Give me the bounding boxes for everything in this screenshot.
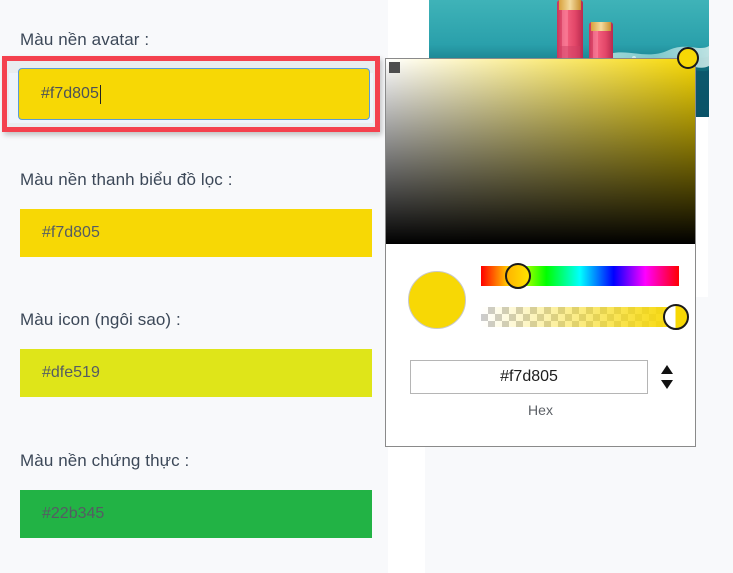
saturation-value-area[interactable] bbox=[386, 59, 695, 244]
triangle-up-icon bbox=[661, 365, 673, 374]
saturation-value-handle[interactable] bbox=[677, 47, 699, 69]
field-label-icon-star-color: Màu icon (ngôi sao) : bbox=[20, 310, 181, 330]
alpha-slider[interactable] bbox=[481, 307, 679, 327]
input-verification-background-value: #22b345 bbox=[42, 505, 104, 523]
hex-spinner[interactable] bbox=[660, 364, 674, 390]
field-label-filter-bar-background: Màu nền thanh biểu đồ lọc : bbox=[20, 170, 233, 190]
input-filter-bar-background-value: #f7d805 bbox=[42, 224, 100, 242]
input-filter-bar-background-color[interactable]: #f7d805 bbox=[20, 209, 372, 257]
input-icon-star-color[interactable]: #dfe519 bbox=[20, 349, 372, 397]
page-root: Màu nền avatar : #f7d805 Màu nền thanh b… bbox=[0, 0, 733, 573]
saturation-value-corner-marker bbox=[389, 62, 400, 73]
hex-input-row: #f7d805 bbox=[410, 360, 672, 394]
input-avatar-background-value: #f7d805 bbox=[41, 85, 99, 103]
hex-input[interactable]: #f7d805 bbox=[410, 360, 648, 394]
hue-slider-handle[interactable] bbox=[505, 263, 531, 289]
input-icon-star-value: #dfe519 bbox=[42, 364, 100, 382]
input-avatar-background-color[interactable]: #f7d805 bbox=[18, 68, 370, 120]
text-caret bbox=[100, 85, 101, 104]
field-label-verification-background: Màu nền chứng thực : bbox=[20, 451, 189, 471]
color-picker-popup[interactable]: #f7d805 Hex bbox=[385, 58, 696, 447]
alpha-slider-handle[interactable] bbox=[663, 304, 689, 330]
color-preview-swatch bbox=[408, 271, 466, 329]
triangle-down-icon bbox=[661, 380, 673, 389]
input-verification-background-color[interactable]: #22b345 bbox=[20, 490, 372, 538]
settings-form: Màu nền avatar : #f7d805 Màu nền thanh b… bbox=[0, 0, 388, 573]
hue-slider[interactable] bbox=[481, 266, 679, 286]
field-label-avatar-background: Màu nền avatar : bbox=[20, 30, 149, 50]
hex-format-label: Hex bbox=[386, 402, 695, 418]
